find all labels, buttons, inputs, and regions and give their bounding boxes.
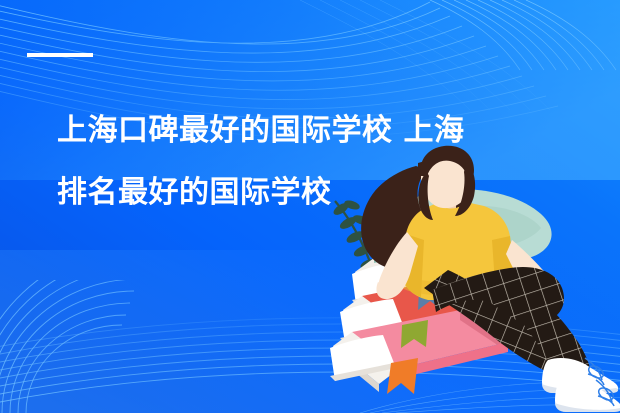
- woman-sitting-on-book-stack-illustration: [0, 0, 620, 413]
- bookmark-orange: [387, 358, 418, 394]
- promo-banner: 上海口碑最好的国际学校 上海 排名最好的国际学校: [0, 0, 620, 413]
